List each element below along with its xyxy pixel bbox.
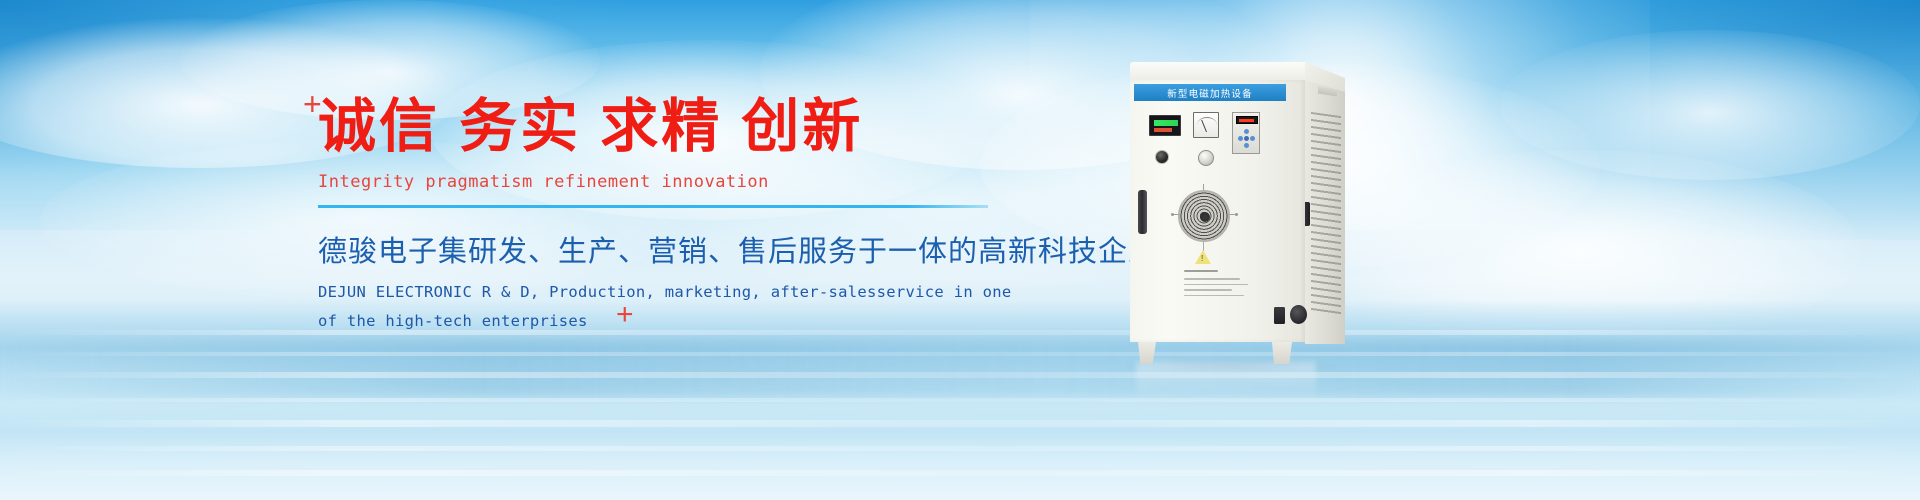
keypad-enter-button[interactable] xyxy=(1244,136,1249,141)
keypad-left-button[interactable] xyxy=(1238,136,1243,141)
machine-door-handle[interactable] xyxy=(1138,190,1147,234)
wave-highlight xyxy=(0,352,1920,356)
subtitle-english-line-1: DEJUN ELECTRONIC R & D, Production, mark… xyxy=(318,279,1018,306)
machine-digital-display xyxy=(1149,115,1181,136)
cloud xyxy=(1500,30,1920,180)
subtitle-chinese: 德骏电子集研发、生产、营销、售后服务于一体的高新科技企业 xyxy=(318,228,1018,270)
machine-brand-label: 新型电磁加热设备 xyxy=(1134,84,1286,101)
machine-spec-plate xyxy=(1184,270,1256,300)
wave-highlight xyxy=(0,398,1920,402)
keypad-buttons[interactable] xyxy=(1237,129,1257,151)
meter-scale xyxy=(1197,117,1217,125)
machine-reflection xyxy=(1136,362,1316,408)
fan-screw xyxy=(1171,213,1174,216)
spec-line xyxy=(1184,295,1244,297)
machine-control-keypad[interactable] xyxy=(1232,112,1260,154)
divider-rule xyxy=(318,205,988,208)
wave-highlight xyxy=(0,372,1920,378)
machine-selector-knob-dark[interactable] xyxy=(1155,150,1169,164)
subtitle-english-line-2: of the high-tech enterprises xyxy=(318,308,1018,335)
machine-analog-meter xyxy=(1193,112,1219,138)
spec-line xyxy=(1184,289,1232,291)
keypad-down-button[interactable] xyxy=(1244,143,1249,148)
display-segment-green xyxy=(1154,120,1178,126)
fan-screw xyxy=(1235,213,1238,216)
wave-highlight xyxy=(0,420,1920,427)
machine-port-rectangular xyxy=(1274,307,1285,324)
keypad-up-button[interactable] xyxy=(1244,129,1249,134)
keypad-right-button[interactable] xyxy=(1250,136,1255,141)
machine-ventilation-slots xyxy=(1311,112,1341,316)
headline-chinese: 诚信 务实 求精 创新 xyxy=(318,96,1018,159)
spec-line xyxy=(1184,284,1248,286)
keypad-led-display xyxy=(1236,116,1258,124)
machine-port-round xyxy=(1290,305,1307,324)
wave-highlight xyxy=(0,470,1920,476)
banner-text-block: 诚信 务实 求精 创新 Integrity pragmatism refinem… xyxy=(318,96,1018,335)
warning-triangle-icon xyxy=(1195,250,1211,264)
sea-shading xyxy=(0,338,1920,398)
display-segment-red xyxy=(1154,128,1172,132)
machine-foot-right xyxy=(1272,342,1292,364)
product-machine-image: 新型电磁加热设备 xyxy=(1122,62,1352,362)
machine-top-panel xyxy=(1130,62,1305,80)
spec-title-line xyxy=(1184,270,1218,272)
machine-selector-knob-light[interactable] xyxy=(1198,150,1214,166)
promotional-banner: + + 诚信 务实 求精 创新 Integrity pragmatism ref… xyxy=(0,0,1920,500)
spec-line xyxy=(1184,278,1240,280)
machine-brand-label-text: 新型电磁加热设备 xyxy=(1167,86,1253,100)
wave-highlight xyxy=(0,446,1920,451)
machine-fan-grille xyxy=(1178,190,1230,242)
headline-english: Integrity pragmatism refinement innovati… xyxy=(318,172,1018,192)
